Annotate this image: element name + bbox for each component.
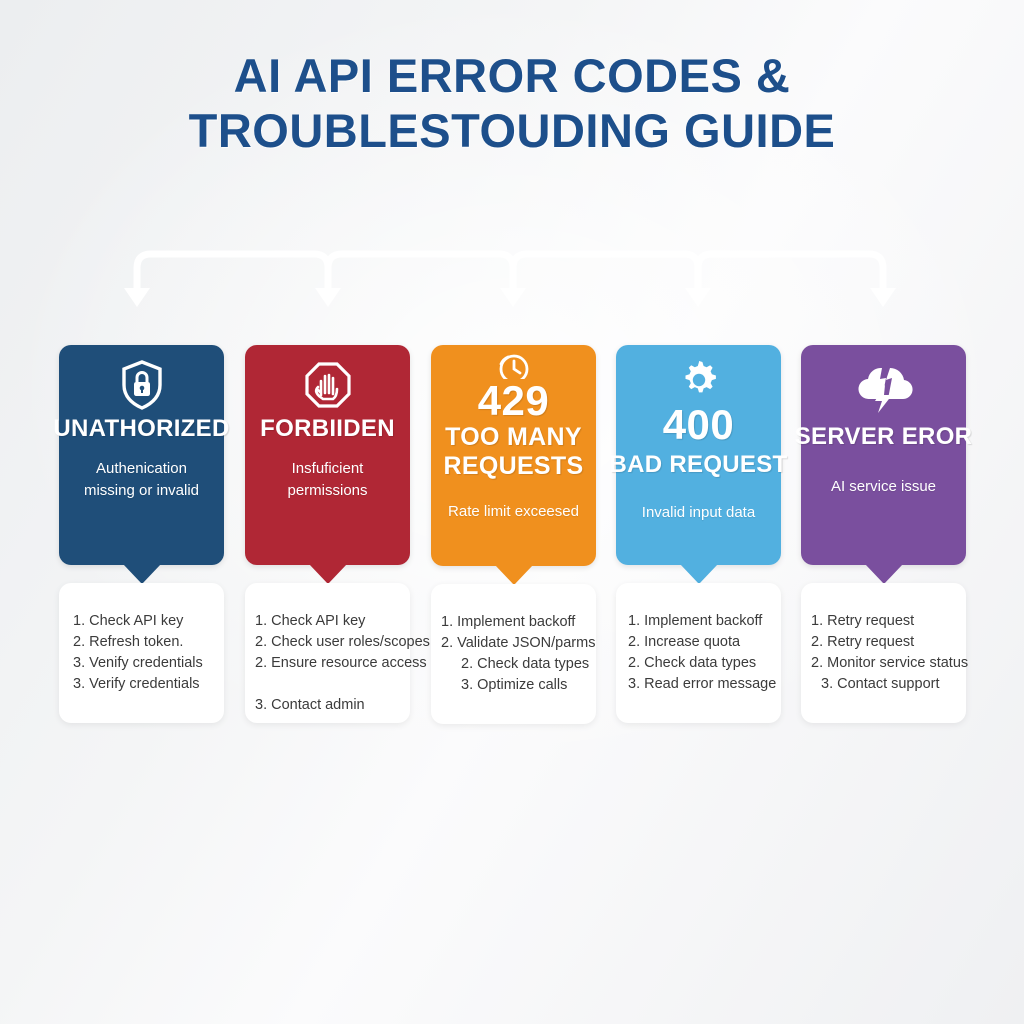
error-cards-row: UNATHORIZED Authenication missing or inv… [0, 345, 1024, 725]
list-item: 2. Increase quota [628, 632, 781, 653]
card-title-server-error: SERVER EROR [795, 423, 973, 450]
card-title-forbidden: FORBIIDEN [260, 415, 395, 442]
card-pointer-server-error [865, 564, 903, 584]
cloud-lightning-icon [852, 359, 916, 413]
list-item: 1. Implement backoff [441, 612, 596, 633]
list-item: 3. Contact admin [255, 695, 410, 716]
clock-icon [496, 351, 532, 379]
steps-panel-server-error: 1. Retry request 2. Retry request 2. Mon… [801, 583, 966, 723]
card-pointer-unauthorized [123, 564, 161, 584]
infographic-page: AI API ERROR CODES & TROUBLESTOUDING GUI… [0, 0, 1024, 1024]
list-item-spacer [255, 674, 410, 695]
list-item: 2. Monitor service status [811, 653, 966, 674]
card-description-forbidden: Insfuficient permissions [251, 458, 404, 502]
gear-icon [678, 359, 720, 403]
list-item: 2. Validate JSON/parms [441, 633, 596, 654]
card-pointer-bad-request [680, 564, 718, 584]
list-item: 2. Retry request [811, 632, 966, 653]
card-title-unauthorized: UNATHORIZED [53, 415, 229, 442]
list-item: 3. Venify credentials [73, 653, 224, 674]
page-title-line-1: AI API ERROR CODES & [0, 48, 1024, 103]
card-title-bad-request: BAD REQUEST [610, 451, 788, 478]
card-description-unauthorized: Authenication missing or invalid [65, 458, 218, 502]
error-card-unauthorized[interactable]: UNATHORIZED Authenication missing or inv… [59, 345, 224, 565]
error-card-forbidden[interactable]: FORBIIDEN Insfuficient permissions 1. Ch… [245, 345, 410, 565]
list-item: 3. Read error message [628, 674, 781, 695]
steps-panel-bad-request: 1. Implement backoff 2. Increase quota 2… [616, 583, 781, 723]
card-header-forbidden: FORBIIDEN Insfuficient permissions [245, 345, 410, 565]
card-title-too-many-requests: TOO MANY REQUESTS [425, 423, 602, 481]
list-item: 1. Check API key [73, 611, 224, 632]
steps-list-too-many-requests: 1. Implement backoff 2. Validate JSON/pa… [431, 612, 596, 696]
card-header-server-error: SERVER EROR AI service issue [801, 345, 966, 565]
card-description-bad-request: Invalid input data [638, 502, 759, 524]
list-item: 2. Check data types [441, 654, 596, 675]
page-title-line-2: TROUBLESTOUDING GUIDE [0, 103, 1024, 158]
error-card-too-many-requests[interactable]: 429 TOO MANY REQUESTS Rate limit exceese… [431, 345, 596, 566]
error-card-bad-request[interactable]: 400 BAD REQUEST Invalid input data 1. Im… [616, 345, 781, 565]
list-item: 1. Check API key [255, 611, 410, 632]
steps-list-server-error: 1. Retry request 2. Retry request 2. Mon… [801, 611, 966, 695]
card-pointer-forbidden [309, 564, 347, 584]
list-item: 3. Verify credentials [73, 674, 224, 695]
list-item: 2. Check user roles/scopes [255, 632, 410, 653]
connector-bracket-row [0, 248, 1024, 310]
card-header-too-many-requests: 429 TOO MANY REQUESTS Rate limit exceese… [431, 345, 596, 566]
steps-panel-unauthorized: 1. Check API key 2. Refresh token. 3. Ve… [59, 583, 224, 723]
error-card-server-error[interactable]: SERVER EROR AI service issue 1. Retry re… [801, 345, 966, 565]
stop-hand-icon [304, 359, 352, 411]
list-item: 2. Refresh token. [73, 632, 224, 653]
shield-lock-icon [119, 359, 165, 411]
card-pointer-too-many-requests [495, 565, 533, 585]
steps-list-bad-request: 1. Implement backoff 2. Increase quota 2… [616, 611, 781, 695]
card-code-too-many-requests: 429 [478, 381, 550, 421]
steps-panel-too-many-requests: 1. Implement backoff 2. Validate JSON/pa… [431, 584, 596, 724]
steps-panel-forbidden: 1. Check API key 2. Check user roles/sco… [245, 583, 410, 723]
list-item: 2. Check data types [628, 653, 781, 674]
card-code-bad-request: 400 [663, 405, 735, 445]
list-item: 3. Optimize calls [441, 675, 596, 696]
steps-list-unauthorized: 1. Check API key 2. Refresh token. 3. Ve… [59, 611, 224, 695]
list-item: 3. Contact support [811, 674, 966, 695]
page-title: AI API ERROR CODES & TROUBLESTOUDING GUI… [0, 48, 1024, 158]
steps-list-forbidden: 1. Check API key 2. Check user roles/sco… [245, 611, 410, 716]
card-header-bad-request: 400 BAD REQUEST Invalid input data [616, 345, 781, 565]
list-item: 1. Retry request [811, 611, 966, 632]
card-description-server-error: AI service issue [827, 476, 940, 498]
card-header-unauthorized: UNATHORIZED Authenication missing or inv… [59, 345, 224, 565]
list-item: 1. Implement backoff [628, 611, 781, 632]
card-description-too-many-requests: Rate limit exceesed [444, 501, 583, 523]
list-item: 2. Ensure resource access [255, 653, 410, 674]
